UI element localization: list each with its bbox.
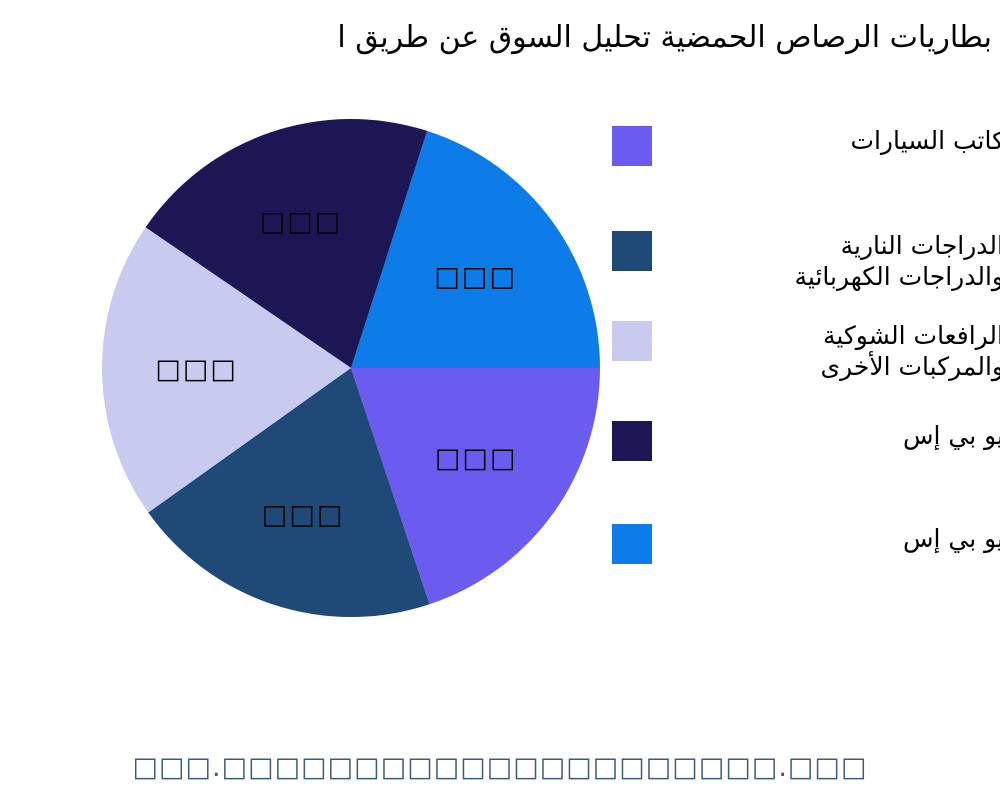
page-title: بطاريات الرصاص الحمضية تحليل السوق عن طر… <box>0 18 992 58</box>
legend-swatch-icon <box>612 421 652 461</box>
legend-item[interactable]: يو بي إس <box>612 420 1000 461</box>
pie-slice-label: □□□ <box>435 443 518 474</box>
legend-item-label: الدراجات النارية والدراجات الكهربائية <box>652 230 1000 292</box>
pie-slice-label: □□□ <box>434 262 517 293</box>
legend-item[interactable]: الرافعات الشوكية والمركبات الأخرى <box>612 320 1000 382</box>
pie-chart: □□□□□□□□□□□□□□□ <box>102 119 600 617</box>
legend-swatch-icon <box>612 321 652 361</box>
legend-swatch-icon <box>612 231 652 271</box>
legend-item-label: يو بي إس <box>652 523 1000 554</box>
legend-item[interactable]: الدراجات النارية والدراجات الكهربائية <box>612 230 1000 292</box>
legend-item-label: يو بي إس <box>652 420 1000 451</box>
legend-item-label: الرافعات الشوكية والمركبات الأخرى <box>652 320 1000 382</box>
legend-item-label: كاتب السيارات <box>652 125 1000 156</box>
pie-slice-label: □□□ <box>262 499 345 530</box>
legend-item[interactable]: كاتب السيارات <box>612 125 1000 166</box>
pie-chart-svg: □□□□□□□□□□□□□□□ <box>102 119 600 617</box>
pie-slice-label: □□□ <box>260 206 343 237</box>
legend-item[interactable]: يو بي إس <box>612 523 1000 564</box>
pie-slice-label: □□□ <box>155 354 238 385</box>
footer-watermark-url: □□□.□□□□□□□□□□□□□□□□□□□□□.□□□ <box>0 752 1000 783</box>
legend-swatch-icon <box>612 126 652 166</box>
legend-swatch-icon <box>612 524 652 564</box>
